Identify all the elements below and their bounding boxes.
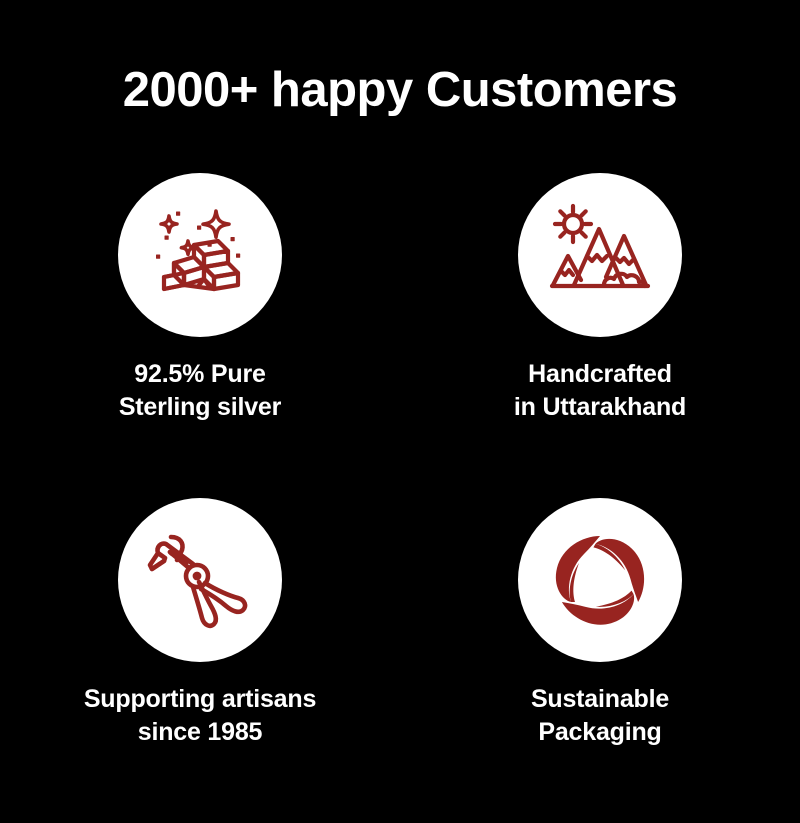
feature-item-handcrafted-uttarakhand: Handcrafted in Uttarakhand (400, 173, 800, 498)
feature-caption: 92.5% Pure Sterling silver (119, 358, 281, 424)
feature-item-sterling-silver: 92.5% Pure Sterling silver (0, 173, 400, 498)
feature-caption: Supporting artisans since 1985 (84, 683, 316, 749)
feature-item-sustainable-packaging: Sustainable Packaging (400, 498, 800, 823)
silver-bars-icon (144, 199, 256, 311)
feature-item-supporting-artisans: Supporting artisans since 1985 (0, 498, 400, 823)
three-leaves-icon (544, 524, 656, 636)
mountains-sun-icon (544, 199, 656, 311)
icon-disc-sustainable-packaging (518, 498, 682, 662)
happy-customers-promo-panel: 2000+ happy Customers (0, 0, 800, 800)
feature-caption: Handcrafted in Uttarakhand (514, 358, 686, 424)
icon-disc-handcrafted (518, 173, 682, 337)
icon-disc-sterling-silver (118, 173, 282, 337)
feature-caption: Sustainable Packaging (531, 683, 669, 749)
page-title: 2000+ happy Customers (0, 64, 800, 118)
feature-grid: 92.5% Pure Sterling silver (0, 173, 800, 823)
pliers-icon (144, 524, 256, 636)
icon-disc-supporting-artisans (118, 498, 282, 662)
